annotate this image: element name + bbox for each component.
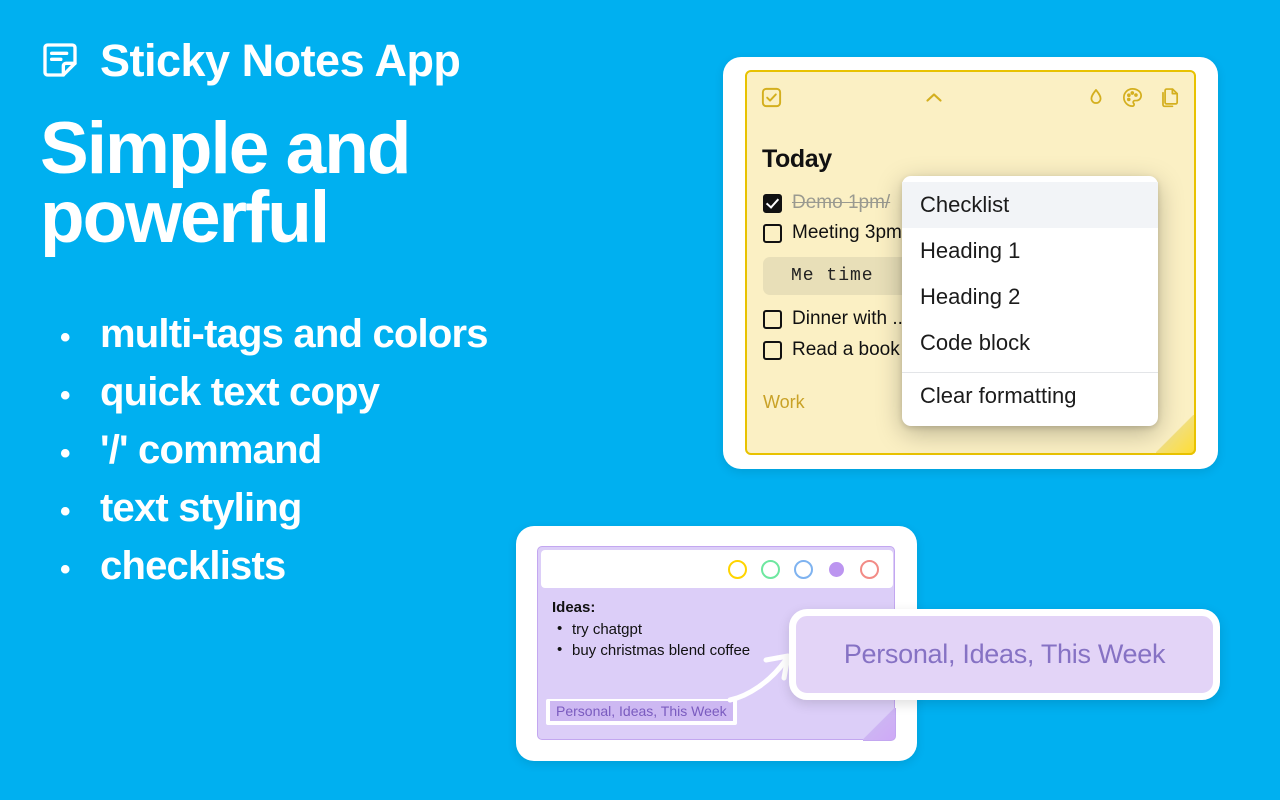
color-swatch-red[interactable] [860, 560, 879, 579]
brand-row: Sticky Notes App [40, 28, 700, 92]
note-tag[interactable]: Work [763, 392, 805, 413]
menu-item-heading-1[interactable]: Heading 1 [902, 228, 1158, 274]
feature-item: • quick text copy [40, 363, 700, 421]
hero-column: Sticky Notes App Simple and powerful • m… [40, 28, 700, 595]
checkbox-icon[interactable] [763, 194, 782, 213]
feature-item: • '/' command [40, 421, 700, 479]
folded-corner [1156, 415, 1196, 455]
checklist-label: Dinner with ... [792, 308, 908, 330]
color-swatch-purple[interactable] [829, 562, 844, 577]
menu-item-clear-formatting[interactable]: Clear formatting [902, 372, 1158, 418]
checklist-label: Demo 1pm/ [792, 192, 890, 214]
menu-item-label: Heading 1 [920, 238, 1020, 264]
water-drop-icon[interactable] [1085, 87, 1107, 114]
palette-icon[interactable] [1121, 86, 1144, 114]
feature-item: • multi-tags and colors [40, 305, 700, 363]
menu-item-label: Code block [920, 330, 1030, 356]
feature-label: quick text copy [100, 363, 379, 421]
menu-item-code-block[interactable]: Code block [902, 320, 1158, 366]
feature-label: multi-tags and colors [100, 305, 488, 363]
feature-label: checklists [100, 537, 285, 595]
tag-line-selection[interactable]: Personal, Ideas, This Week [546, 699, 737, 725]
checkbox-icon[interactable] [763, 310, 782, 329]
tag-callout-text: Personal, Ideas, This Week [844, 639, 1165, 670]
folded-corner [863, 708, 896, 741]
checkbox-icon[interactable] [763, 224, 782, 243]
menu-item-label: Heading 2 [920, 284, 1020, 310]
note-heading: Today [762, 145, 832, 174]
slash-command-menu: Checklist Heading 1 Heading 2 Code block… [902, 176, 1158, 426]
checkbox-icon[interactable] [763, 341, 782, 360]
bullet-icon: • [40, 439, 100, 469]
color-picker-bar [541, 550, 893, 588]
color-swatch-green[interactable] [761, 560, 780, 579]
sticky-note-icon [40, 40, 80, 80]
bullet-icon: • [40, 497, 100, 527]
color-swatch-blue[interactable] [794, 560, 813, 579]
feature-label: '/' command [100, 421, 321, 479]
brand-name: Sticky Notes App [100, 38, 460, 83]
feature-label: text styling [100, 479, 302, 537]
menu-item-checklist[interactable]: Checklist [902, 182, 1158, 228]
color-swatch-yellow[interactable] [728, 560, 747, 579]
copy-icon[interactable] [1158, 86, 1181, 114]
checkbox-checked-icon[interactable] [760, 86, 783, 114]
bullet-icon: • [40, 555, 100, 585]
chevron-up-icon[interactable] [922, 86, 946, 115]
menu-item-label: Clear formatting [920, 383, 1077, 409]
checklist-label: Read a book [792, 339, 900, 361]
bullet-icon: • [40, 323, 100, 353]
bullet-icon: • [40, 381, 100, 411]
menu-item-heading-2[interactable]: Heading 2 [902, 274, 1158, 320]
yellow-note-toolbar [760, 84, 1181, 116]
tag-line-label: Personal, Ideas, This Week [550, 701, 733, 721]
checklist-label: Meeting 3pm [792, 222, 902, 244]
menu-item-label: Checklist [920, 192, 1009, 218]
tag-callout-bubble: Personal, Ideas, This Week [789, 609, 1220, 700]
page-title: Simple and powerful [40, 114, 510, 253]
